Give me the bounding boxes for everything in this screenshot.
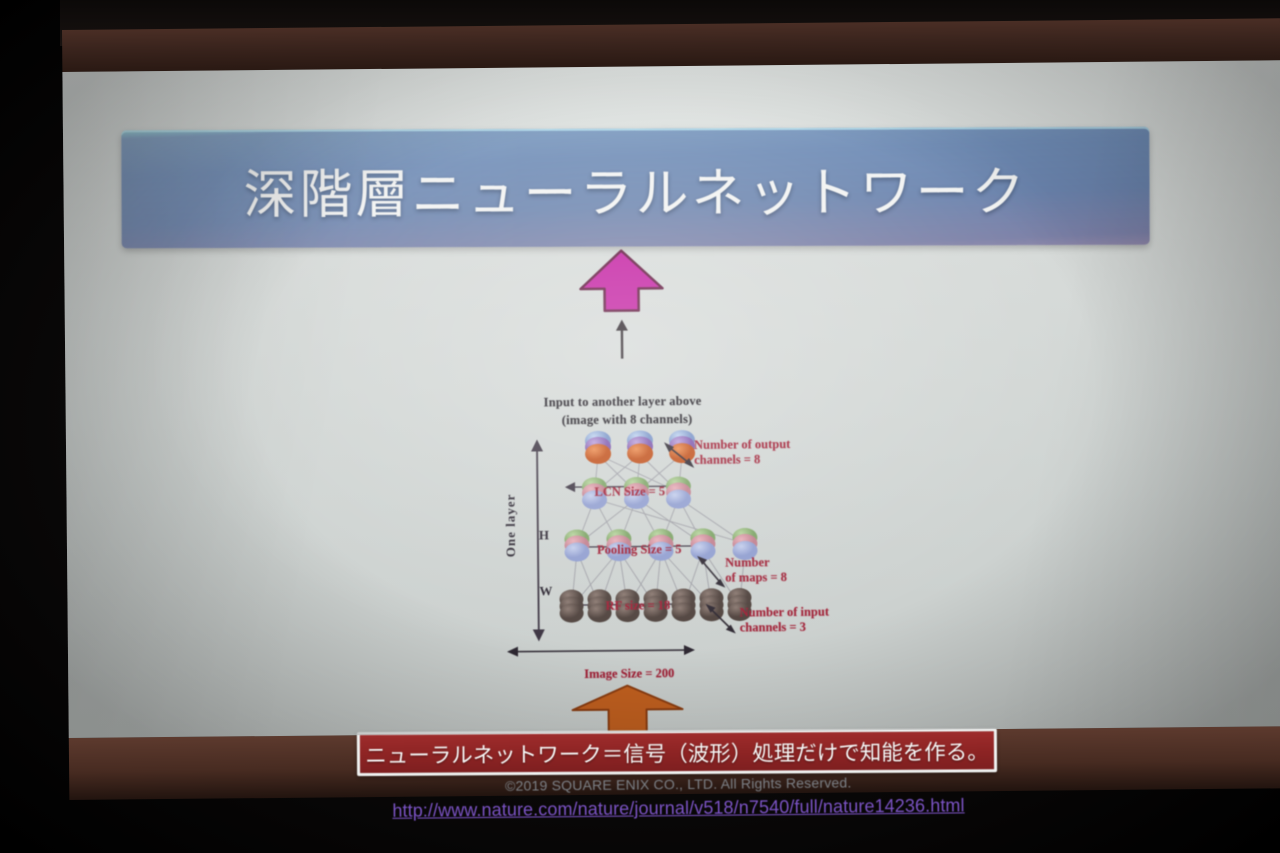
- slide-surface: 深階層ニューラルネットワーク Input to another layer ab…: [62, 60, 1280, 738]
- projection-screen: 深階層ニューラルネットワーク Input to another layer ab…: [62, 18, 1280, 820]
- image-size-arrow-icon: [506, 642, 696, 660]
- presentation-room: 深階層ニューラルネットワーク Input to another layer ab…: [0, 0, 1280, 853]
- annotation-output-channels-line1: Number of output: [694, 437, 790, 453]
- annotation-output-channels: Number of output channels = 8: [694, 437, 791, 468]
- output-channels-arrow-icon: [662, 440, 696, 470]
- key-message-text: ニューラルネットワーク＝信号（波形）処理だけで知能を作る。: [365, 735, 989, 770]
- title-banner: 深階層ニューラルネットワーク: [121, 127, 1149, 249]
- annotation-pooling-size: Pooling Size = 5: [597, 542, 682, 558]
- page-title: 深階層ニューラルネットワーク: [243, 150, 1027, 229]
- annotation-number-of-maps: Number of maps = 8: [725, 555, 787, 586]
- annotation-lcn-size: LCN Size = 5: [594, 484, 665, 500]
- key-message-banner: ニューラルネットワーク＝信号（波形）処理だけで知能を作る。: [357, 728, 997, 776]
- maps-arrow-icon: [695, 554, 727, 590]
- annotation-maps-line1: Number: [725, 555, 787, 571]
- annotation-rf-size: RF size = 18: [605, 598, 670, 614]
- annotation-input-channels-line1: Number of input: [740, 605, 830, 621]
- input-channels-arrow-icon: [704, 602, 738, 636]
- annotation-input-channels-line2: channels = 3: [740, 620, 830, 636]
- annotation-maps-line2: of maps = 8: [725, 570, 787, 586]
- neural-network-diagram: Input to another layer above (image with…: [444, 252, 918, 656]
- annotation-input-channels: Number of input channels = 3: [740, 605, 830, 636]
- annotation-image-size: Image Size = 200: [584, 666, 674, 682]
- annotation-output-channels-line2: channels = 8: [694, 452, 790, 468]
